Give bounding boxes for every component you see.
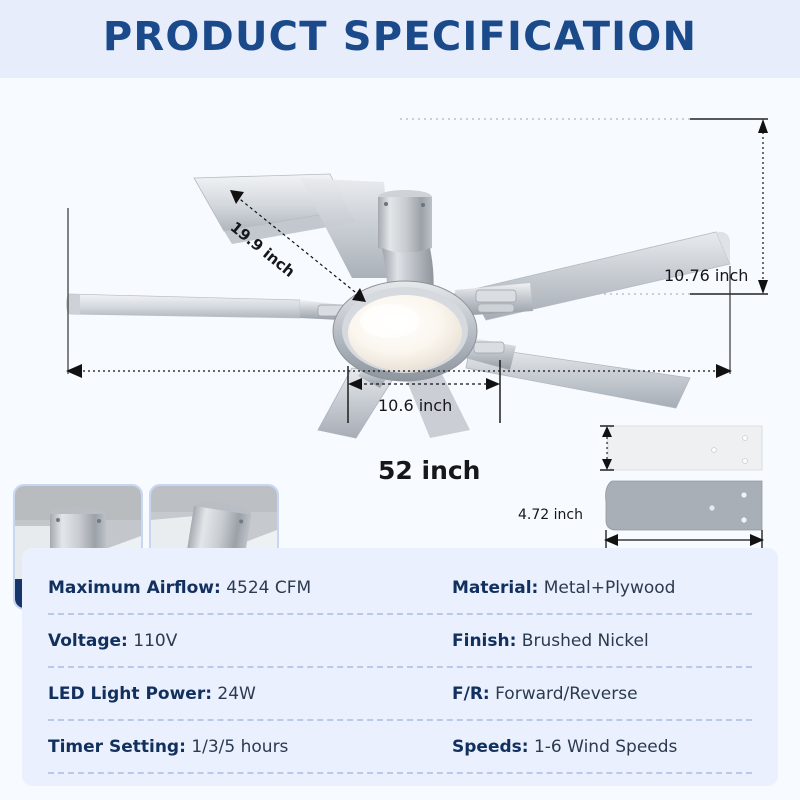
spec-cell-timer-setting: Timer Setting: 1/3/5 hours (48, 737, 400, 757)
spec-cell-forward-reverse: F/R: Forward/Reverse (400, 684, 752, 704)
spec-key: Finish: (452, 631, 516, 651)
dimension-label-height: 10.76 inch (664, 266, 748, 285)
spec-value: Forward/Reverse (495, 684, 637, 704)
spec-key: Material: (452, 578, 538, 598)
spec-cell-led-light-power: LED Light Power: 24W (48, 684, 400, 704)
spec-value: 110V (133, 631, 177, 651)
spec-key: Timer Setting: (48, 737, 186, 757)
table-row: LED Light Power: 24W F/R: Forward/Revers… (48, 668, 752, 721)
spec-key: F/R: (452, 684, 490, 704)
product-diagram: 19.9 inch 10.76 inch 10.6 inch 52 inch 4… (0, 78, 800, 548)
spec-cell-material: Material: Metal+Plywood (400, 578, 752, 598)
page-title: PRODUCT SPECIFICATION (0, 14, 800, 60)
table-row: Voltage: 110V Finish: Brushed Nickel (48, 615, 752, 668)
spec-cell-speeds: Speeds: 1-6 Wind Speeds (400, 737, 752, 757)
spec-cell-maximum-airflow: Maximum Airflow: 4524 CFM (48, 578, 400, 598)
table-row: Timer Setting: 1/3/5 hours Speeds: 1-6 W… (48, 721, 752, 774)
dimension-label-span: 52 inch (378, 456, 480, 485)
spec-key: Maximum Airflow: (48, 578, 221, 598)
spec-cell-finish: Finish: Brushed Nickel (400, 631, 752, 651)
spec-value: Brushed Nickel (522, 631, 649, 651)
spec-value: Metal+Plywood (544, 578, 676, 598)
spec-key: Speeds: (452, 737, 529, 757)
table-row: Maximum Airflow: 4524 CFM Material: Meta… (48, 562, 752, 615)
spec-cell-voltage: Voltage: 110V (48, 631, 400, 651)
spec-value: 1/3/5 hours (191, 737, 288, 757)
dimension-label-hub-width: 10.6 inch (378, 396, 452, 415)
spec-key: LED Light Power: (48, 684, 212, 704)
spec-value: 24W (217, 684, 255, 704)
dimension-label-blade-height: 4.72 inch (518, 507, 583, 523)
spec-key: Voltage: (48, 631, 128, 651)
spec-value: 1-6 Wind Speeds (534, 737, 677, 757)
spec-value: 4524 CFM (226, 578, 311, 598)
specification-table: Maximum Airflow: 4524 CFM Material: Meta… (22, 548, 778, 786)
